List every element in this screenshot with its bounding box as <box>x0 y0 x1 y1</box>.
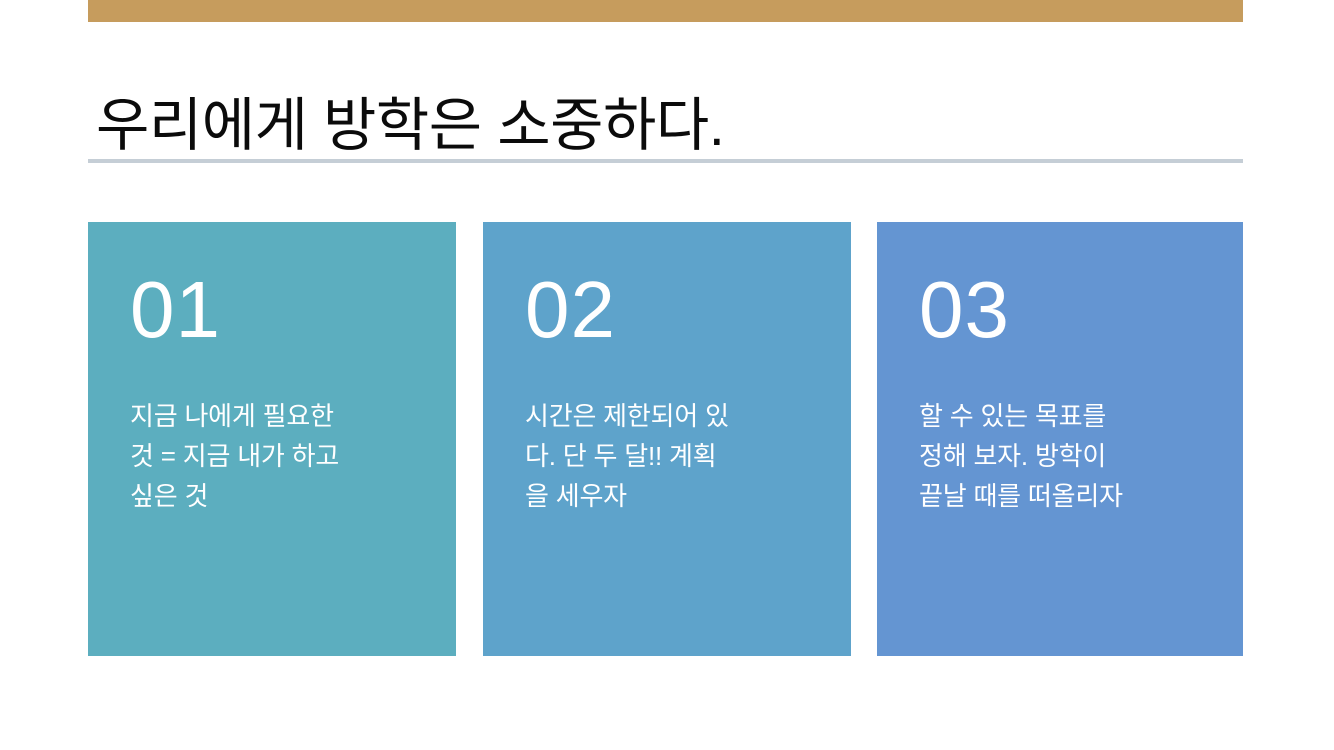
card-02[interactable]: 02 시간은 제한되어 있 다. 단 두 달!! 계획 을 세우자 <box>483 222 851 656</box>
slide-canvas: 우리에게 방학은 소중하다. 01 지금 나에게 필요한 것 = 지금 내가 하… <box>0 0 1334 750</box>
card-01-body: 지금 나에게 필요한 것 = 지금 내가 하고 싶은 것 <box>130 396 434 516</box>
card-02-body: 시간은 제한되어 있 다. 단 두 달!! 계획 을 세우자 <box>525 396 829 516</box>
title-divider <box>88 159 1243 163</box>
card-02-number: 02 <box>525 268 829 352</box>
top-accent-bar <box>88 0 1243 22</box>
card-03[interactable]: 03 할 수 있는 목표를 정해 보자. 방학이 끝날 때를 떠올리자 <box>877 222 1243 656</box>
card-row: 01 지금 나에게 필요한 것 = 지금 내가 하고 싶은 것 02 시간은 제… <box>88 222 1243 656</box>
page-title: 우리에게 방학은 소중하다. <box>96 88 1246 164</box>
card-01[interactable]: 01 지금 나에게 필요한 것 = 지금 내가 하고 싶은 것 <box>88 222 456 656</box>
card-03-number: 03 <box>919 268 1221 352</box>
card-01-number: 01 <box>130 268 434 352</box>
card-03-body: 할 수 있는 목표를 정해 보자. 방학이 끝날 때를 떠올리자 <box>919 396 1221 516</box>
